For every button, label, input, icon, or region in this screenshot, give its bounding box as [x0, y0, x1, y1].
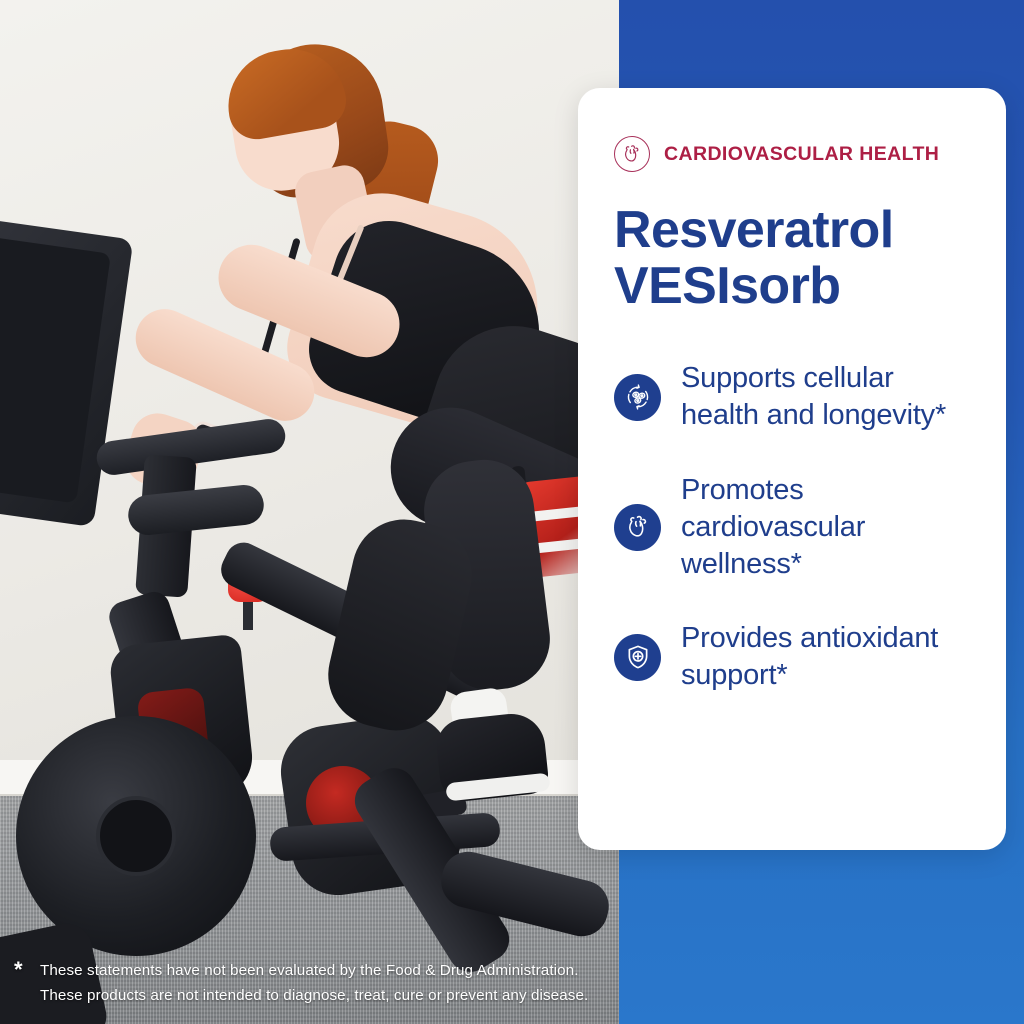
benefit-item: Promotes cardiovascular wellness* — [614, 472, 970, 582]
category-eyebrow: CARDIOVASCULAR HEALTH — [614, 136, 970, 172]
benefits-card: CARDIOVASCULAR HEALTH Resveratrol VESIso… — [578, 88, 1006, 850]
disclaimer-line-2: These products are not intended to diagn… — [40, 983, 614, 1008]
page-title: Resveratrol VESIsorb — [614, 202, 970, 314]
benefit-item: Provides antioxidant support* — [614, 620, 970, 694]
benefit-item: Supports cellular health and longevity* — [614, 360, 970, 434]
product-benefit-ad: * These statements have not been evaluat… — [0, 0, 1024, 1024]
benefits-list: Supports cellular health and longevity* … — [614, 360, 970, 694]
anatomical-heart-icon — [614, 504, 661, 551]
shield-cross-icon — [614, 634, 661, 681]
disclaimer-lines: These statements have not been evaluated… — [14, 958, 614, 1008]
fda-disclaimer: * These statements have not been evaluat… — [14, 958, 614, 1008]
benefit-text: Supports cellular health and longevity* — [681, 360, 970, 434]
category-label: CARDIOVASCULAR HEALTH — [664, 143, 939, 166]
bike-flywheel-hub — [96, 796, 176, 876]
anatomical-heart-icon — [614, 136, 650, 172]
disclaimer-line-1: These statements have not been evaluated… — [40, 958, 614, 983]
benefit-text: Promotes cardiovascular wellness* — [681, 472, 970, 582]
disclaimer-asterisk: * — [14, 960, 23, 980]
cell-renewal-icon — [614, 374, 661, 421]
headline-line-2: VESIsorb — [614, 258, 970, 314]
headline-line-1: Resveratrol — [614, 202, 970, 258]
benefit-text: Provides antioxidant support* — [681, 620, 970, 694]
hero-photo — [0, 0, 622, 1024]
